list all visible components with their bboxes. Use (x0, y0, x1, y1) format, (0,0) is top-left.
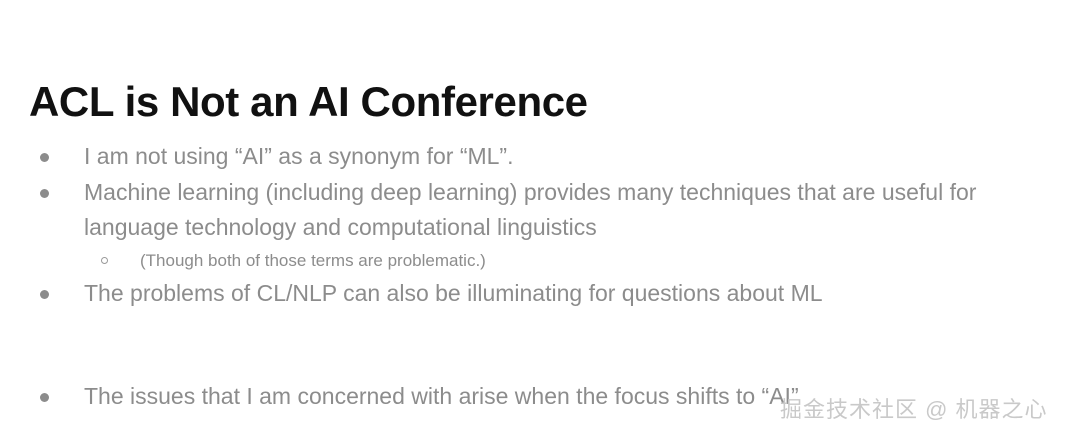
bullet-disc-icon (40, 290, 49, 299)
bullet-item: I am not using “AI” as a synonym for “ML… (0, 139, 1080, 175)
bullet-disc-icon (40, 393, 49, 402)
bullet-text: (Though both of those terms are problema… (140, 246, 1020, 276)
bullet-text: Machine learning (including deep learnin… (84, 175, 1020, 246)
bullet-disc-icon (40, 153, 49, 162)
bullet-item: (Though both of those terms are problema… (0, 246, 1080, 276)
bullet-text: I am not using “AI” as a synonym for “ML… (84, 139, 1020, 175)
slide-canvas: ACL is Not an AI Conference I am not usi… (0, 0, 1080, 438)
bullet-circle-icon (101, 257, 108, 264)
bullet-disc-icon (40, 189, 49, 198)
bullet-text: The problems of CL/NLP can also be illum… (84, 276, 1020, 312)
page-title: ACL is Not an AI Conference (29, 78, 588, 126)
bullet-item: Machine learning (including deep learnin… (0, 175, 1080, 246)
bullet-list: I am not using “AI” as a synonym for “ML… (0, 139, 1080, 415)
watermark-text: 掘金技术社区 @ 机器之心 (780, 399, 1048, 421)
bullet-item: The problems of CL/NLP can also be illum… (0, 276, 1080, 312)
bullet-spacer (0, 311, 1080, 379)
